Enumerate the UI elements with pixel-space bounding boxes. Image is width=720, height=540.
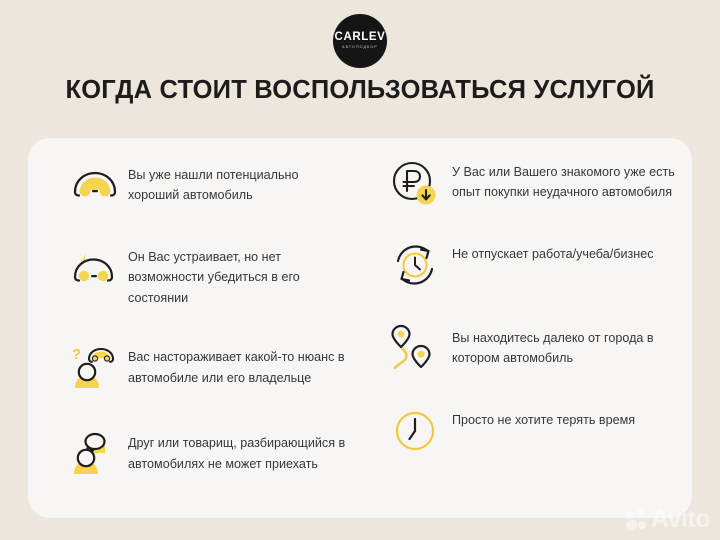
page-title: КОГДА СТОИТ ВОСПОЛЬЗОВАТЬСЯ УСЛУГОЙ bbox=[0, 76, 720, 105]
benefits-right-column: У Вас или Вашего знакомого уже есть опыт… bbox=[360, 152, 692, 518]
list-item-text: Просто не хотите терять время bbox=[444, 405, 635, 430]
list-item-text: Не отпускает работа/учеба/бизнес bbox=[444, 239, 654, 264]
avito-watermark: Avito bbox=[626, 507, 710, 532]
list-item: Просто не хотите терять время bbox=[386, 405, 676, 457]
car-icon bbox=[66, 160, 124, 212]
list-item-text: Друг или товарищ, разбирающийся в автомо… bbox=[124, 428, 348, 474]
list-item: Не отпускает работа/учеба/бизнес bbox=[386, 239, 676, 291]
list-item: Он Вас устраивает, но нет возможности уб… bbox=[66, 242, 348, 308]
benefits-left-column: Вы уже нашли потенциально хороший автомо… bbox=[28, 152, 360, 518]
list-item: У Вас или Вашего знакомого уже есть опыт… bbox=[386, 157, 676, 209]
brand-logo: CARLEV АВТОПОДБОР bbox=[333, 14, 387, 68]
list-item: Друг или товарищ, разбирающийся в автомо… bbox=[66, 428, 348, 480]
ruble-down-arrow-icon bbox=[386, 157, 444, 209]
avito-logo-icon bbox=[626, 509, 648, 531]
map-pins-route-icon bbox=[386, 323, 444, 375]
clock-icon bbox=[386, 405, 444, 457]
list-item: Вы уже нашли потенциально хороший автомо… bbox=[66, 160, 348, 212]
person-speech-bubble-icon bbox=[66, 428, 124, 480]
list-item-text: Он Вас устраивает, но нет возможности уб… bbox=[124, 242, 348, 308]
avito-wordmark: Avito bbox=[651, 507, 710, 532]
car-spark-icon bbox=[66, 242, 124, 294]
logo-wordmark: CARLEV bbox=[335, 32, 386, 44]
benefits-columns: Вы уже нашли потенциально хороший автомо… bbox=[28, 138, 692, 518]
list-item-text: У Вас или Вашего знакомого уже есть опыт… bbox=[444, 157, 676, 203]
list-item-text: Вы находитесь далеко от города в котором… bbox=[444, 323, 676, 369]
list-item-text: Вас настораживает какой-то нюанс в автом… bbox=[124, 342, 348, 388]
person-question-car-icon: ? bbox=[66, 342, 124, 394]
list-item: Вы находитесь далеко от города в котором… bbox=[386, 323, 676, 375]
logo-tagline: АВТОПОДБОР bbox=[342, 46, 378, 50]
list-item: ? Вас настораживает какой-то нюанс в авт… bbox=[66, 342, 348, 394]
logo-circle: CARLEV АВТОПОДБОР bbox=[333, 14, 387, 68]
svg-text:?: ? bbox=[72, 346, 81, 363]
benefits-card: Вы уже нашли потенциально хороший автомо… bbox=[28, 138, 692, 518]
list-item-text: Вы уже нашли потенциально хороший автомо… bbox=[124, 160, 348, 206]
clock-refresh-icon bbox=[386, 239, 444, 291]
